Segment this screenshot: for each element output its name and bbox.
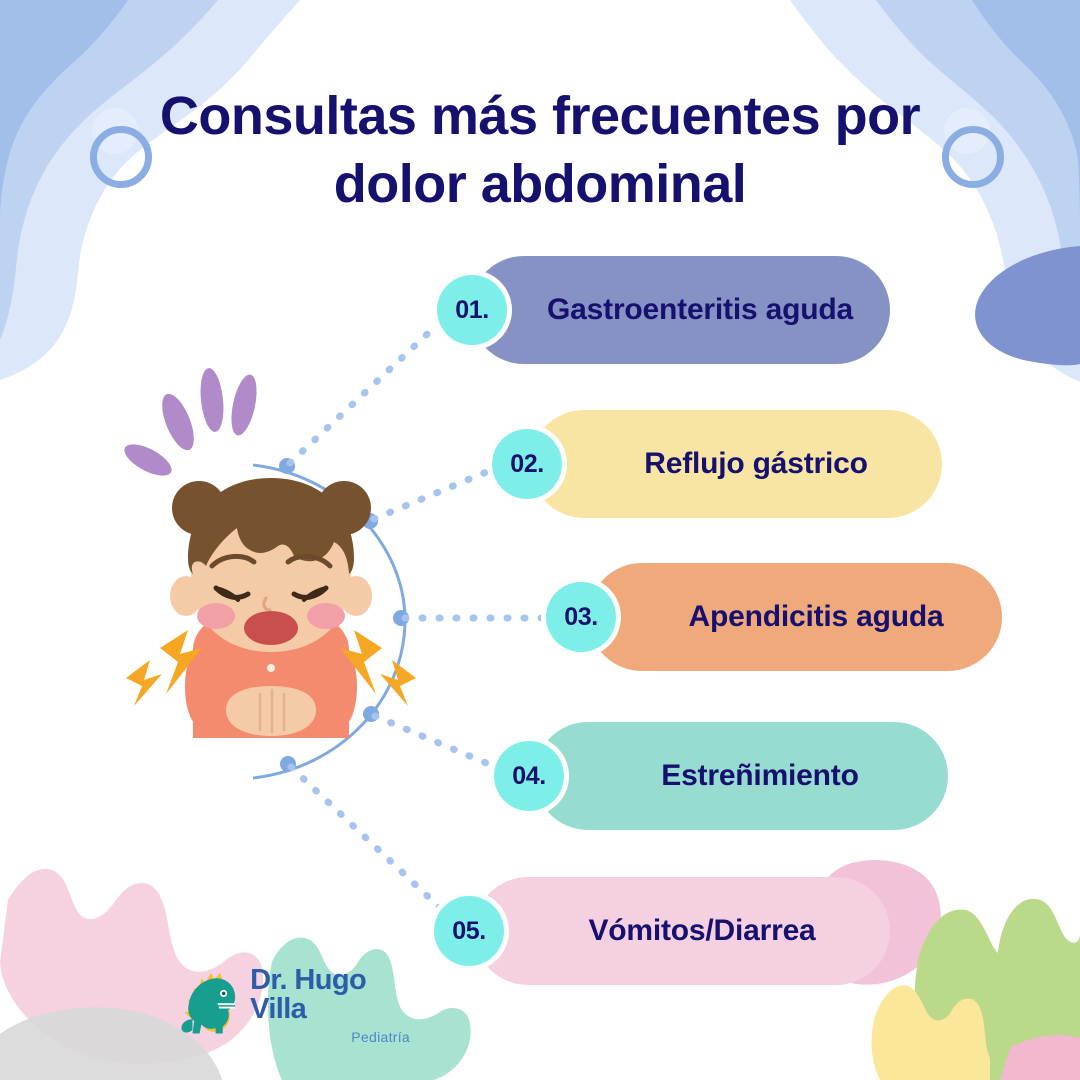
item-label-05: Vómitos/Diarrea (588, 914, 815, 948)
item-badge-01[interactable]: 01. (437, 275, 507, 345)
item-number-02: 02. (510, 450, 544, 479)
logo-subtitle: Pediatría (250, 1030, 410, 1044)
item-pill-03[interactable]: Apendicitis aguda (588, 563, 1002, 671)
logo-name: Dr. Hugo Villa (250, 966, 410, 1024)
item-badge-04[interactable]: 04. (494, 741, 564, 811)
item-badge-02[interactable]: 02. (492, 429, 562, 499)
item-pill-01[interactable]: Gastroenteritis aguda (470, 256, 890, 364)
page-title-line-1: Consultas más frecuentes por (160, 86, 920, 146)
item-number-03: 03. (564, 603, 598, 632)
item-pill-04[interactable]: Estreñimiento (534, 722, 948, 830)
item-badge-03[interactable]: 03. (546, 582, 616, 652)
infographic-canvas: Consultas más frecuentes por dolor abdom… (0, 0, 1080, 1080)
dino-pupil (222, 992, 226, 996)
brand-logo[interactable]: Dr. Hugo Villa Pediatría (180, 962, 410, 1048)
item-number-04: 04. (512, 762, 546, 791)
item-number-01: 01. (455, 296, 489, 325)
item-pill-02[interactable]: Reflujo gástrico (530, 410, 942, 518)
item-number-05: 05. (452, 917, 486, 946)
item-label-04: Estreñimiento (661, 759, 858, 793)
item-label-02: Reflujo gástrico (644, 447, 868, 481)
page-title-line-2: dolor abdominal (90, 150, 990, 218)
logo-text-block: Dr. Hugo Villa Pediatría (250, 966, 410, 1044)
item-badge-05[interactable]: 05. (434, 896, 504, 966)
item-pill-05[interactable]: Vómitos/Diarrea (474, 877, 890, 985)
item-label-01: Gastroenteritis aguda (547, 293, 853, 327)
page-title: Consultas más frecuentes por dolor abdom… (90, 82, 990, 218)
item-label-03: Apendicitis aguda (689, 600, 944, 634)
dino-tail (181, 1019, 192, 1032)
dinosaur-icon (180, 965, 244, 1045)
